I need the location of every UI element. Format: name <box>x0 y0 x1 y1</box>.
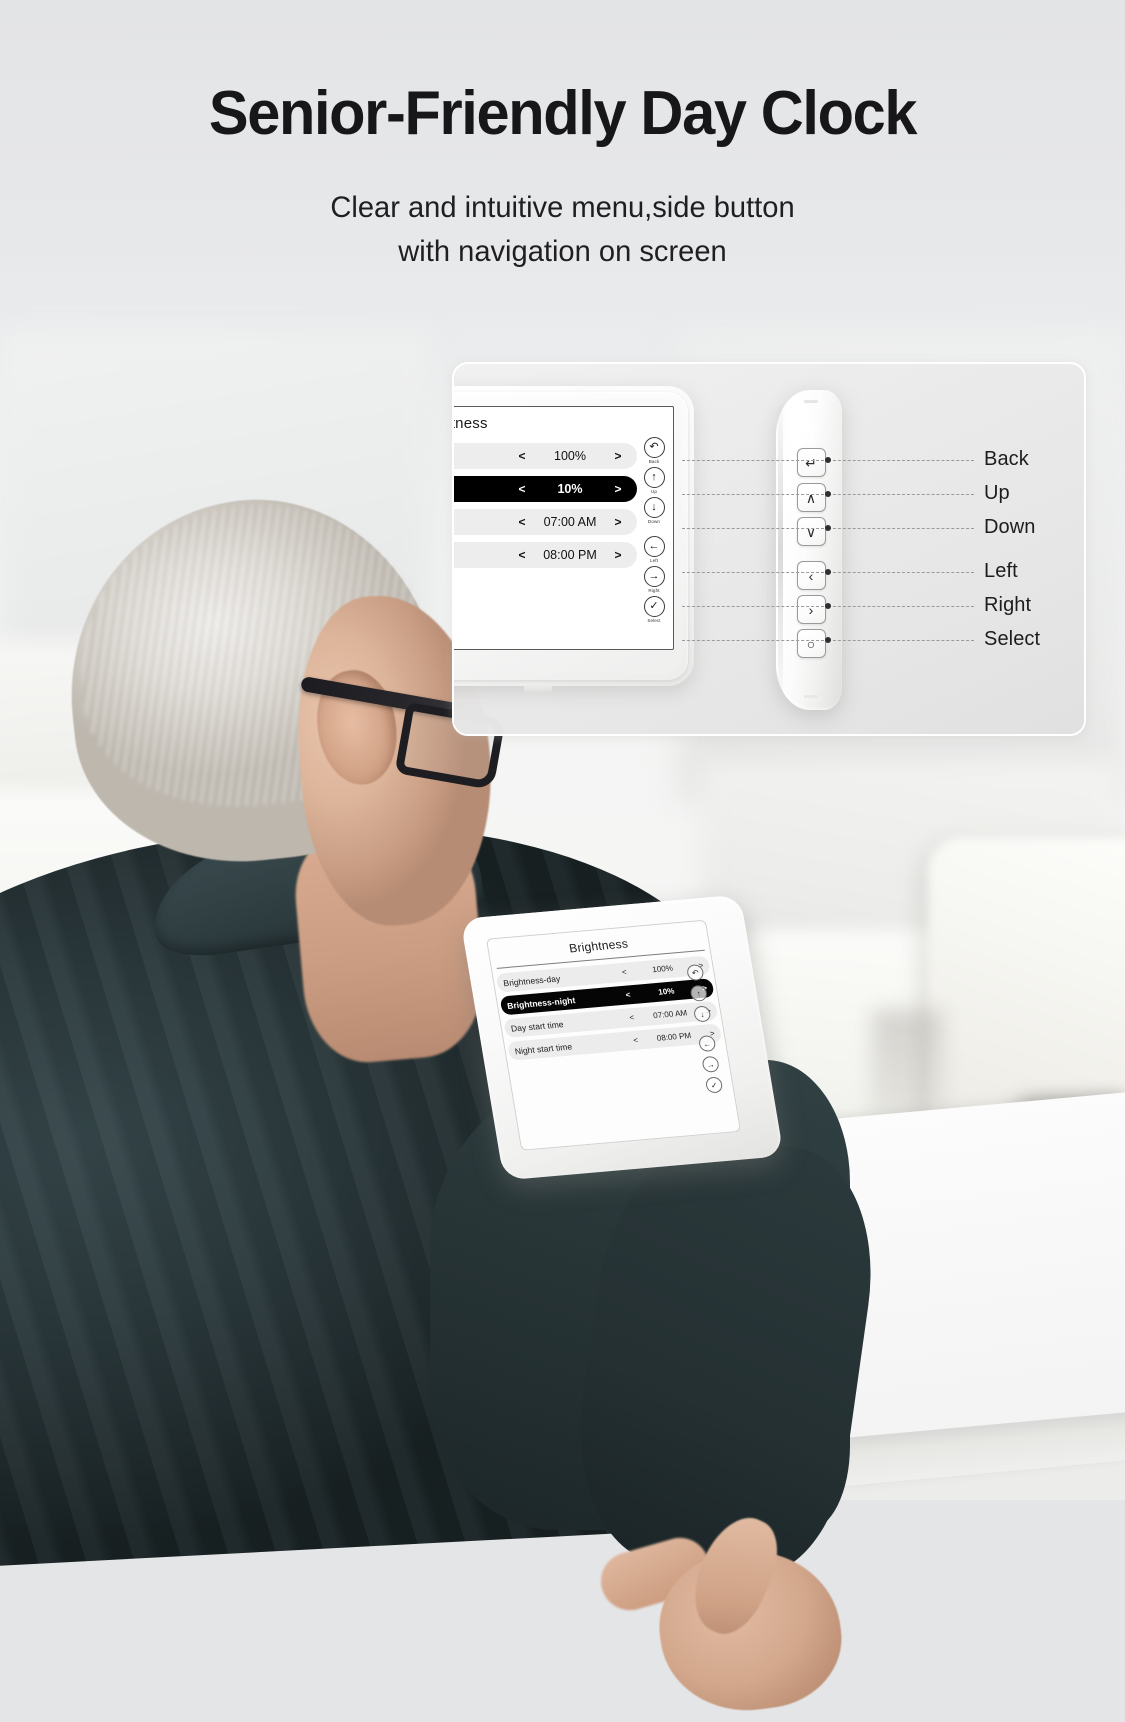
chevron-down-icon[interactable]: ∨ <box>797 517 826 546</box>
leader-dot-up <box>825 491 831 497</box>
side-button-column[interactable]: ↵ ∧ ∨ ‹ › ○ <box>796 448 826 658</box>
page-subtitle: Clear and intuitive menu,side button wit… <box>17 186 1108 273</box>
held-row-label: Day start time <box>510 1019 564 1033</box>
leader-select-right <box>828 640 974 641</box>
side-view-device: ↵ ∧ ∨ ‹ › ○ <box>776 390 842 710</box>
leader-right-left <box>682 606 824 607</box>
onscreen-nav-up[interactable]: ↑ Up <box>644 467 665 497</box>
leader-right-right <box>828 606 974 607</box>
screen-title: rightness <box>452 415 488 432</box>
held-row-label: Brightness-day <box>503 973 561 988</box>
circle-icon[interactable]: ○ <box>797 629 826 658</box>
held-back-icon[interactable]: ↶ <box>686 964 705 981</box>
chevron-up-icon[interactable]: ∧ <box>797 483 826 512</box>
check-icon[interactable]: ✓ <box>644 596 665 617</box>
row-value: 100% <box>533 449 607 463</box>
held-row-label: Night start time <box>514 1041 573 1056</box>
row-value: 08:00 PM <box>533 548 607 562</box>
device-screen: rightness < 100% > < 10% > < 07:00 AM > … <box>452 406 674 650</box>
side-notch-bottom <box>804 695 818 698</box>
leader-dot-right <box>825 603 831 609</box>
held-row-value: 100% <box>640 963 685 976</box>
row-brightness-day[interactable]: < 100% > <box>452 443 637 469</box>
held-arrow-right-icon[interactable]: → <box>701 1056 720 1073</box>
leader-up-right <box>828 494 974 495</box>
held-arrow-left-icon[interactable]: ← <box>698 1035 717 1052</box>
subtitle-line-2: with navigation on screen <box>17 230 1108 274</box>
callout-label-left: Left <box>984 560 1018 583</box>
leader-select-left <box>682 640 824 641</box>
leader-dot-select <box>825 637 831 643</box>
arrow-up-icon[interactable]: ↑ <box>644 467 665 488</box>
back-caption: Back <box>649 459 660 464</box>
row-left-arrow[interactable]: < <box>511 548 533 562</box>
leader-left-right <box>828 572 974 573</box>
callout-label-select: Select <box>984 628 1040 651</box>
select-caption: Select <box>647 618 660 623</box>
row-brightness-night[interactable]: < 10% > <box>452 476 637 502</box>
row-right-arrow[interactable]: > <box>607 548 629 562</box>
held-row-value: 07:00 AM <box>647 1008 692 1021</box>
row-left-arrow[interactable]: < <box>511 449 533 463</box>
callout-label-down: Down <box>984 516 1036 539</box>
front-view-device: rightness < 100% > < 10% > < 07:00 AM > … <box>452 386 694 686</box>
held-device-screen: Brightness Brightness-day < 100% > Brigh… <box>486 920 741 1151</box>
arrow-left-icon[interactable]: ← <box>644 536 665 557</box>
onscreen-nav-select[interactable]: ✓ Select <box>644 596 665 626</box>
callout-label-back: Back <box>984 448 1029 471</box>
page-title: Senior-Friendly Day Clock <box>23 78 1103 149</box>
held-day-clock-device: Brightness Brightness-day < 100% > Brigh… <box>460 895 784 1181</box>
arrow-down-icon[interactable]: ↓ <box>644 497 665 518</box>
leader-back-right <box>828 460 974 461</box>
back-icon[interactable]: ↶ <box>644 437 665 458</box>
leader-dot-left <box>825 569 831 575</box>
leader-dot-down <box>825 525 831 531</box>
onscreen-nav-down[interactable]: ↓ Down <box>644 497 665 527</box>
callout-label-up: Up <box>984 482 1010 505</box>
leader-dot-back <box>825 457 831 463</box>
row-value: 07:00 AM <box>533 515 607 529</box>
held-row-value: 10% <box>644 985 689 998</box>
leader-back-left <box>682 460 824 461</box>
row-right-arrow[interactable]: > <box>607 515 629 529</box>
onscreen-nav-back[interactable]: ↶ Back <box>644 437 665 467</box>
held-row-left-arrow[interactable]: < <box>625 990 631 999</box>
held-arrow-up-icon[interactable]: ↑ <box>689 985 708 1002</box>
return-arrow-icon[interactable]: ↵ <box>797 448 826 477</box>
leader-left-left <box>682 572 824 573</box>
leader-up-left <box>682 494 824 495</box>
up-caption: Up <box>651 489 657 494</box>
subtitle-line-1: Clear and intuitive menu,side button <box>17 186 1108 230</box>
row-day-start-time[interactable]: < 07:00 AM > <box>452 509 637 535</box>
chevron-left-icon[interactable]: ‹ <box>797 561 826 590</box>
device-foot <box>524 684 552 693</box>
row-right-arrow[interactable]: > <box>607 449 629 463</box>
row-left-arrow[interactable]: < <box>511 515 533 529</box>
held-row-label: Brightness-night <box>506 995 576 1011</box>
callout-label-right: Right <box>984 594 1031 617</box>
held-check-icon[interactable]: ✓ <box>705 1076 724 1093</box>
left-caption: Left <box>650 558 658 563</box>
down-caption: Down <box>648 519 660 524</box>
side-device-rim <box>778 404 783 696</box>
row-left-arrow[interactable]: < <box>511 482 533 496</box>
held-row-left-arrow[interactable]: < <box>629 1013 635 1022</box>
onscreen-nav-left[interactable]: ← Left <box>644 536 665 566</box>
onscreen-nav-column[interactable]: ↶ Back ↑ Up ↓ Down ← Left → Right <box>637 437 671 626</box>
side-notch-top <box>804 400 818 403</box>
row-night-start-time[interactable]: < 08:00 PM > <box>452 542 637 568</box>
right-caption: Right <box>648 588 659 593</box>
row-right-arrow[interactable]: > <box>607 482 629 496</box>
chevron-right-icon[interactable]: › <box>797 595 826 624</box>
leader-down-right <box>828 528 974 529</box>
held-row-left-arrow[interactable]: < <box>633 1036 639 1045</box>
row-value: 10% <box>533 482 607 496</box>
held-row-value: 08:00 PM <box>651 1031 696 1044</box>
held-arrow-down-icon[interactable]: ↓ <box>693 1005 712 1022</box>
onscreen-nav-right[interactable]: → Right <box>644 566 665 596</box>
arrow-right-icon[interactable]: → <box>644 566 665 587</box>
held-row-left-arrow[interactable]: < <box>621 968 627 977</box>
callout-panel: rightness < 100% > < 10% > < 07:00 AM > … <box>452 362 1086 736</box>
leader-down-left <box>682 528 824 529</box>
